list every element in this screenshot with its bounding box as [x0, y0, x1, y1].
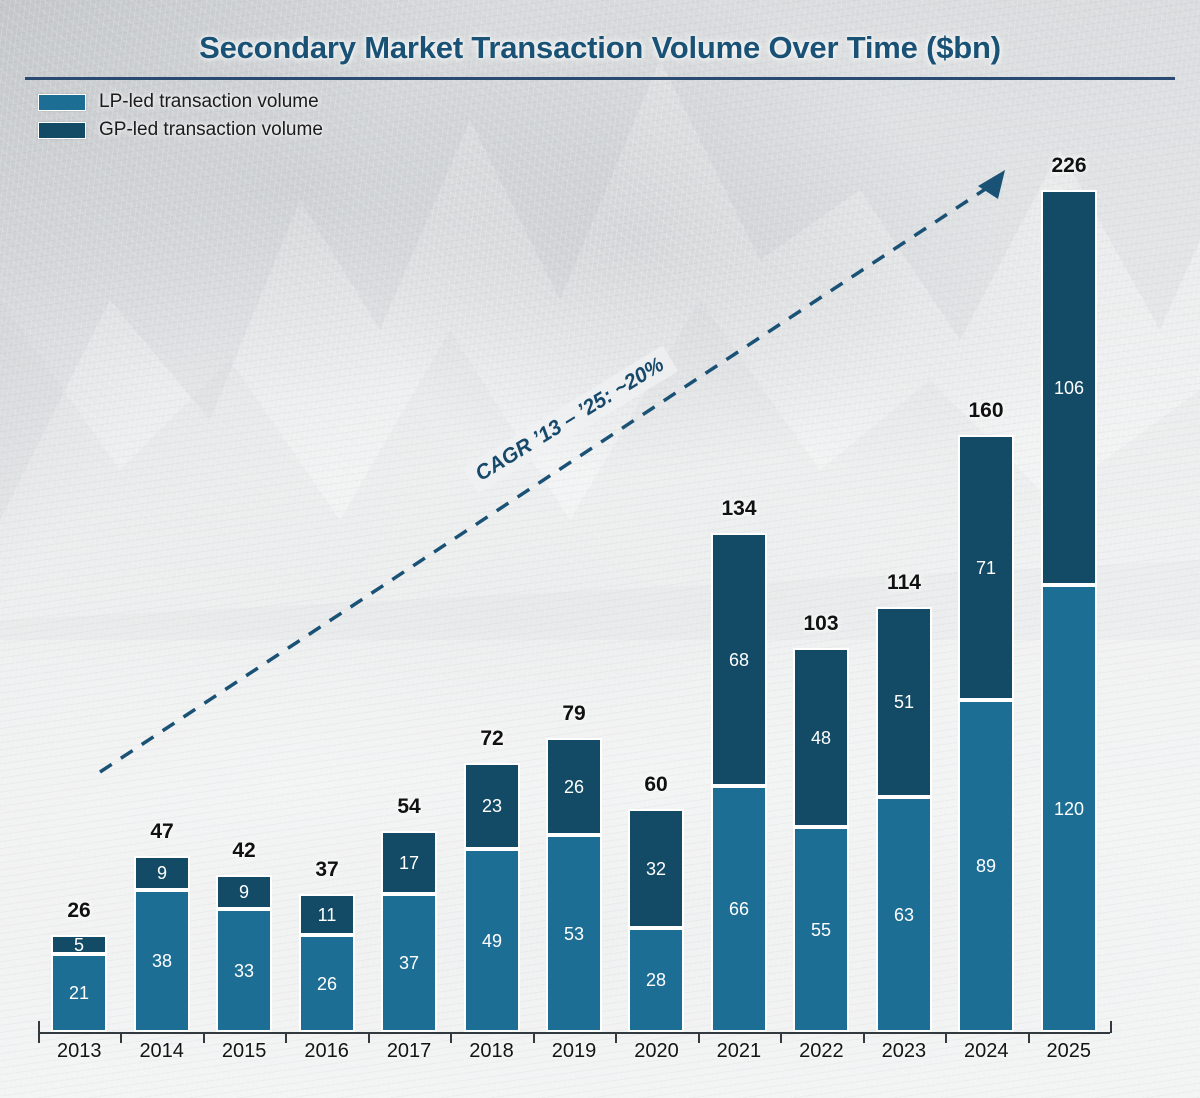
bar-segment-value-gp: 17 [399, 854, 419, 872]
x-axis-label: 2022 [780, 1040, 862, 1063]
bar-segment-gp[interactable]: 51 [876, 607, 932, 797]
title-divider [25, 77, 1175, 80]
bar-segment-value-lp: 63 [894, 906, 914, 924]
bar-segment-gp[interactable]: 48 [793, 648, 849, 827]
bar-column[interactable]: 120106 [1041, 190, 1097, 1032]
bar-column[interactable]: 6668 [711, 533, 767, 1032]
bar-segment-value-lp: 66 [729, 900, 749, 918]
bar-column[interactable]: 339 [216, 875, 272, 1032]
bar-segment-lp[interactable]: 89 [958, 700, 1014, 1032]
bar-segment-value-lp: 55 [811, 921, 831, 939]
bar-column[interactable]: 389 [134, 856, 190, 1032]
bar-segment-value-gp: 9 [157, 864, 167, 882]
x-axis-label: 2019 [533, 1040, 615, 1063]
bar-segment-lp[interactable]: 38 [134, 890, 190, 1032]
bar-total-label: 134 [721, 497, 756, 521]
bar-segment-value-lp: 28 [646, 971, 666, 989]
bar-column[interactable]: 4923 [464, 763, 520, 1032]
x-axis-label: 2018 [451, 1040, 533, 1063]
bar-column[interactable]: 8971 [958, 435, 1014, 1032]
bar-segment-value-lp: 53 [564, 925, 584, 943]
bar-segment-lp[interactable]: 63 [876, 797, 932, 1032]
bar-segment-lp[interactable]: 53 [546, 835, 602, 1032]
bar-segment-lp[interactable]: 33 [216, 909, 272, 1032]
legend-swatch-lp-icon [38, 94, 86, 111]
bar-segment-value-gp: 68 [729, 651, 749, 669]
legend-label-lp: LP-led transaction volume [99, 91, 319, 113]
legend-item-lp[interactable]: LP-led transaction volume [38, 90, 323, 114]
bar-segment-value-lp: 21 [69, 984, 89, 1002]
bar-total-label: 114 [887, 571, 921, 595]
bar-column[interactable]: 5326 [546, 738, 602, 1032]
bar-segment-value-lp: 49 [482, 932, 502, 950]
bar-segment-lp[interactable]: 66 [711, 786, 767, 1032]
bar-segment-lp[interactable]: 120 [1041, 585, 1097, 1032]
bar-segment-gp[interactable]: 11 [299, 894, 355, 935]
bar-segment-gp[interactable]: 17 [381, 831, 437, 894]
bar-segment-value-gp: 32 [646, 860, 666, 878]
bar-segment-value-lp: 89 [976, 857, 996, 875]
bar-total-label: 26 [67, 899, 90, 923]
bar-column[interactable]: 2832 [628, 809, 684, 1032]
bar-column[interactable]: 215 [51, 935, 107, 1032]
bar-segment-gp[interactable]: 68 [711, 533, 767, 786]
bar-segment-lp[interactable]: 49 [464, 849, 520, 1032]
bar-column[interactable]: 6351 [876, 607, 932, 1032]
bar-segment-value-gp: 26 [564, 778, 584, 796]
bar-segment-gp[interactable]: 26 [546, 738, 602, 835]
bar-segment-gp[interactable]: 71 [958, 435, 1014, 700]
bar-column[interactable]: 5548 [793, 648, 849, 1032]
bar-segment-value-gp: 48 [811, 729, 831, 747]
bar-segment-gp[interactable]: 9 [216, 875, 272, 909]
bar-segment-lp[interactable]: 37 [381, 894, 437, 1032]
x-axis-label: 2014 [121, 1040, 203, 1063]
legend-label-gp: GP-led transaction volume [99, 119, 323, 141]
x-axis-label: 2016 [286, 1040, 368, 1063]
bar-segment-lp[interactable]: 55 [793, 827, 849, 1032]
bar-total-label: 226 [1051, 154, 1086, 178]
x-axis-end-cap [38, 1021, 40, 1033]
bar-segment-gp[interactable]: 9 [134, 856, 190, 890]
bar-segment-lp[interactable]: 21 [51, 954, 107, 1032]
bar-segment-value-lp: 120 [1054, 800, 1084, 818]
bar-column[interactable]: 2611 [299, 894, 355, 1032]
bar-segment-value-gp: 5 [74, 936, 84, 954]
bar-total-label: 42 [232, 839, 255, 863]
legend-swatch-gp-icon [38, 122, 86, 139]
bar-total-label: 72 [480, 727, 503, 751]
chart-plot-area: 2152638947339422611373717544923725326792… [0, 0, 1200, 1098]
bar-total-label: 37 [315, 858, 338, 882]
bar-total-label: 60 [644, 773, 667, 797]
x-axis-label: 2020 [615, 1040, 697, 1063]
bar-segment-value-lp: 33 [234, 962, 254, 980]
bar-segment-value-gp: 11 [318, 906, 337, 924]
bar-segment-gp[interactable]: 23 [464, 763, 520, 849]
x-axis-label: 2013 [38, 1040, 120, 1063]
bar-segment-value-gp: 9 [239, 883, 249, 901]
x-axis-line [38, 1032, 1110, 1034]
bar-total-label: 54 [397, 795, 420, 819]
bar-segment-gp[interactable]: 106 [1041, 190, 1097, 585]
bar-segment-lp[interactable]: 28 [628, 928, 684, 1032]
page-title: Secondary Market Transaction Volume Over… [0, 30, 1200, 66]
bar-total-label: 79 [562, 702, 585, 726]
x-axis-label: 2025 [1028, 1040, 1110, 1063]
bar-total-label: 47 [150, 820, 173, 844]
bar-segment-lp[interactable]: 26 [299, 935, 355, 1032]
bar-segment-value-lp: 26 [317, 975, 337, 993]
bar-segment-value-gp: 23 [482, 797, 502, 815]
bar-segment-value-gp: 51 [894, 693, 914, 711]
bar-total-label: 160 [968, 399, 1003, 423]
bar-segment-value-lp: 38 [152, 952, 172, 970]
bar-segment-value-lp: 37 [399, 954, 419, 972]
x-axis-label: 2015 [203, 1040, 285, 1063]
x-axis-label: 2023 [863, 1040, 945, 1063]
x-axis-label: 2021 [698, 1040, 780, 1063]
bar-total-label: 103 [803, 612, 838, 636]
legend-item-gp[interactable]: GP-led transaction volume [38, 118, 323, 142]
x-axis-label: 2024 [945, 1040, 1027, 1063]
bar-segment-gp[interactable]: 5 [51, 935, 107, 954]
bar-segment-value-gp: 71 [976, 559, 996, 577]
bar-segment-gp[interactable]: 32 [628, 809, 684, 928]
x-axis-end-cap [1110, 1021, 1112, 1033]
bar-column[interactable]: 3717 [381, 831, 437, 1032]
chart-legend: LP-led transaction volume GP-led transac… [38, 90, 323, 146]
x-axis-label: 2017 [368, 1040, 450, 1063]
bar-segment-value-gp: 106 [1054, 379, 1084, 397]
